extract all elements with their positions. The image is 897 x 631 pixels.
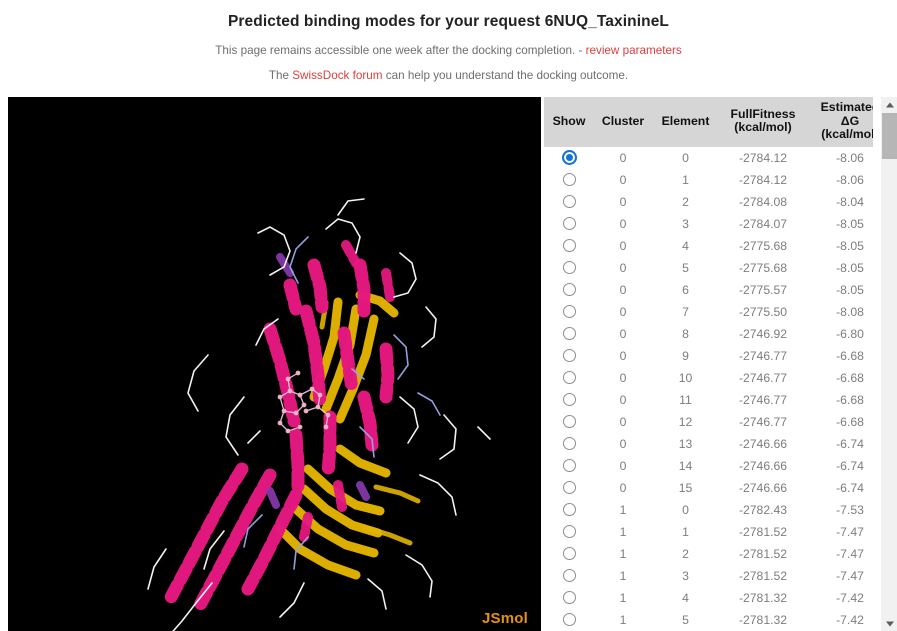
cell-estimated-dg: -6.74 xyxy=(807,433,873,455)
table-row[interactable]: 10-2782.43-7.53 xyxy=(544,499,873,521)
cell-element: 4 xyxy=(652,235,719,257)
cell-element: 5 xyxy=(652,257,719,279)
cell-cluster: 0 xyxy=(594,477,652,499)
column-header-fullfitness[interactable]: FullFitness (kcal/mol) xyxy=(719,97,807,147)
cell-fullfitness: -2781.32 xyxy=(719,587,807,609)
show-radio-button[interactable] xyxy=(563,195,576,208)
cell-fullfitness: -2746.92 xyxy=(719,323,807,345)
scroll-down-button[interactable] xyxy=(881,616,897,631)
column-header-fullfitness-unit: (kcal/mol) xyxy=(734,120,791,134)
cell-fullfitness: -2746.66 xyxy=(719,433,807,455)
cell-fullfitness: -2781.52 xyxy=(719,565,807,587)
cell-estimated-dg: -8.08 xyxy=(807,301,873,323)
cell-estimated-dg: -7.47 xyxy=(807,565,873,587)
cell-element: 2 xyxy=(652,543,719,565)
cell-fullfitness: -2746.66 xyxy=(719,477,807,499)
cell-fullfitness: -2746.77 xyxy=(719,411,807,433)
cell-fullfitness: -2775.57 xyxy=(719,279,807,301)
cell-cluster: 0 xyxy=(594,301,652,323)
cell-show[interactable] xyxy=(544,565,594,587)
cell-show[interactable] xyxy=(544,147,594,169)
cell-cluster: 0 xyxy=(594,235,652,257)
jsmol-viewer[interactable]: JSmol xyxy=(8,97,541,631)
cell-cluster: 1 xyxy=(594,543,652,565)
show-radio-button[interactable] xyxy=(563,349,576,362)
show-radio-button[interactable] xyxy=(563,613,576,626)
table-header: Show Cluster Element FullFitness (kcal/m… xyxy=(544,97,873,147)
cell-estimated-dg: -7.42 xyxy=(807,609,873,631)
column-header-estimated-dg[interactable]: Estimated ΔG (kcal/mol) xyxy=(807,97,873,147)
cell-cluster: 0 xyxy=(594,345,652,367)
cell-estimated-dg: -8.05 xyxy=(807,279,873,301)
cell-estimated-dg: -8.06 xyxy=(807,147,873,169)
cell-estimated-dg: -6.68 xyxy=(807,367,873,389)
cell-cluster: 0 xyxy=(594,257,652,279)
cell-show[interactable] xyxy=(544,301,594,323)
cell-cluster: 1 xyxy=(594,565,652,587)
cell-element: 6 xyxy=(652,279,719,301)
cell-element: 13 xyxy=(652,433,719,455)
cell-fullfitness: -2775.68 xyxy=(719,257,807,279)
table-row[interactable]: 11-2781.52-7.47 xyxy=(544,521,873,543)
show-radio-button[interactable] xyxy=(563,305,576,318)
main-content: JSmol Show Cluster Element FullFitness (… xyxy=(0,97,897,631)
cell-estimated-dg: -8.05 xyxy=(807,235,873,257)
show-radio-button[interactable] xyxy=(563,459,576,472)
cell-fullfitness: -2775.50 xyxy=(719,301,807,323)
table-row[interactable]: 010-2746.77-6.68 xyxy=(544,367,873,389)
table-row[interactable]: 011-2746.77-6.68 xyxy=(544,389,873,411)
cell-estimated-dg: -8.04 xyxy=(807,191,873,213)
show-radio-button[interactable] xyxy=(563,261,576,274)
cell-cluster: 0 xyxy=(594,411,652,433)
cell-estimated-dg: -7.47 xyxy=(807,521,873,543)
cell-cluster: 0 xyxy=(594,389,652,411)
cell-element: 10 xyxy=(652,367,719,389)
show-radio-button[interactable] xyxy=(563,481,576,494)
table-header-row: Show Cluster Element FullFitness (kcal/m… xyxy=(544,97,873,147)
cell-show[interactable] xyxy=(544,345,594,367)
column-header-dg-unit: (kcal/mol) xyxy=(821,127,873,141)
cell-fullfitness: -2781.52 xyxy=(719,521,807,543)
cell-show[interactable] xyxy=(544,389,594,411)
cell-fullfitness: -2784.12 xyxy=(719,169,807,191)
cell-cluster: 0 xyxy=(594,279,652,301)
jsmol-logo: JSmol xyxy=(482,610,528,627)
show-radio-button[interactable] xyxy=(563,547,576,560)
column-header-element[interactable]: Element xyxy=(652,97,719,147)
cell-element: 2 xyxy=(652,191,719,213)
forum-notice-prefix: The xyxy=(269,69,292,82)
table-row[interactable]: 09-2746.77-6.68 xyxy=(544,345,873,367)
cell-estimated-dg: -6.68 xyxy=(807,345,873,367)
show-radio-button[interactable] xyxy=(563,371,576,384)
page-title: Predicted binding modes for your request… xyxy=(0,13,897,31)
cell-cluster: 0 xyxy=(594,433,652,455)
cell-estimated-dg: -7.47 xyxy=(807,543,873,565)
cell-fullfitness: -2746.77 xyxy=(719,345,807,367)
column-header-show[interactable]: Show xyxy=(544,97,594,147)
cell-show[interactable] xyxy=(544,543,594,565)
results-table-scroll-area: Show Cluster Element FullFitness (kcal/m… xyxy=(544,97,873,631)
cell-fullfitness: -2784.08 xyxy=(719,191,807,213)
cell-element: 12 xyxy=(652,411,719,433)
cell-show[interactable] xyxy=(544,521,594,543)
cell-fullfitness: -2782.43 xyxy=(719,499,807,521)
cell-estimated-dg: -6.74 xyxy=(807,455,873,477)
column-header-cluster[interactable]: Cluster xyxy=(594,97,652,147)
cell-element: 1 xyxy=(652,169,719,191)
protein-ribbon-structure-icon xyxy=(8,97,541,631)
show-radio-button[interactable] xyxy=(563,525,576,538)
cell-cluster: 1 xyxy=(594,521,652,543)
cell-show[interactable] xyxy=(544,235,594,257)
column-header-dg-label: Estimated xyxy=(821,100,873,114)
table-row[interactable]: 08-2746.92-6.80 xyxy=(544,323,873,345)
table-row[interactable]: 07-2775.50-8.08 xyxy=(544,301,873,323)
table-row[interactable]: 01-2784.12-8.06 xyxy=(544,169,873,191)
accessibility-notice: This page remains accessible one week af… xyxy=(0,43,897,58)
table-row[interactable]: 13-2781.52-7.47 xyxy=(544,565,873,587)
column-header-dg-symbol: ΔG xyxy=(841,114,859,128)
cell-show[interactable] xyxy=(544,587,594,609)
cell-cluster: 0 xyxy=(594,191,652,213)
review-parameters-link[interactable]: review parameters xyxy=(586,44,682,57)
cell-show[interactable] xyxy=(544,169,594,191)
cell-show[interactable] xyxy=(544,411,594,433)
cell-element: 5 xyxy=(652,609,719,631)
cell-fullfitness: -2775.68 xyxy=(719,235,807,257)
show-radio-button[interactable] xyxy=(563,415,576,428)
show-radio-button[interactable] xyxy=(563,591,576,604)
cell-element: 3 xyxy=(652,565,719,587)
cell-show[interactable] xyxy=(544,279,594,301)
cell-show[interactable] xyxy=(544,367,594,389)
table-row[interactable]: 00-2784.12-8.06 xyxy=(544,147,873,169)
column-header-fullfitness-label: FullFitness xyxy=(731,107,796,121)
cell-fullfitness: -2746.77 xyxy=(719,389,807,411)
cell-fullfitness: -2746.66 xyxy=(719,455,807,477)
cell-show[interactable] xyxy=(544,499,594,521)
cell-estimated-dg: -6.68 xyxy=(807,411,873,433)
table-row[interactable]: 02-2784.08-8.04 xyxy=(544,191,873,213)
results-table-scrollbar[interactable] xyxy=(880,97,897,631)
cell-show[interactable] xyxy=(544,477,594,499)
cell-cluster: 0 xyxy=(594,147,652,169)
cell-cluster: 0 xyxy=(594,213,652,235)
cell-element: 15 xyxy=(652,477,719,499)
results-table-panel: Show Cluster Element FullFitness (kcal/m… xyxy=(544,97,897,631)
cell-estimated-dg: -6.68 xyxy=(807,389,873,411)
cell-element: 3 xyxy=(652,213,719,235)
cell-cluster: 0 xyxy=(594,367,652,389)
table-row[interactable]: 15-2781.32-7.42 xyxy=(544,609,873,631)
cell-cluster: 0 xyxy=(594,455,652,477)
show-radio-button[interactable] xyxy=(563,239,576,252)
table-row[interactable]: 06-2775.57-8.05 xyxy=(544,279,873,301)
show-radio-button[interactable] xyxy=(563,283,576,296)
cell-fullfitness: -2784.12 xyxy=(719,147,807,169)
chevron-up-icon xyxy=(886,102,894,107)
show-radio-button[interactable] xyxy=(563,327,576,340)
cell-element: 9 xyxy=(652,345,719,367)
cell-fullfitness: -2746.77 xyxy=(719,367,807,389)
cell-estimated-dg: -7.42 xyxy=(807,587,873,609)
page-header: Predicted binding modes for your request… xyxy=(0,0,897,83)
cell-element: 8 xyxy=(652,323,719,345)
cell-show[interactable] xyxy=(544,213,594,235)
cell-estimated-dg: -8.05 xyxy=(807,257,873,279)
cell-cluster: 1 xyxy=(594,609,652,631)
table-row[interactable]: 14-2781.32-7.42 xyxy=(544,587,873,609)
cell-cluster: 0 xyxy=(594,323,652,345)
show-radio-button[interactable] xyxy=(563,437,576,450)
cell-cluster: 0 xyxy=(594,169,652,191)
chevron-down-icon xyxy=(886,621,894,626)
cell-element: 14 xyxy=(652,455,719,477)
table-row[interactable]: 04-2775.68-8.05 xyxy=(544,235,873,257)
binding-modes-table: Show Cluster Element FullFitness (kcal/m… xyxy=(544,97,873,631)
show-radio-button[interactable] xyxy=(563,173,576,186)
cell-fullfitness: -2784.07 xyxy=(719,213,807,235)
table-row[interactable]: 014-2746.66-6.74 xyxy=(544,455,873,477)
table-row[interactable]: 12-2781.52-7.47 xyxy=(544,543,873,565)
table-row[interactable]: 03-2784.07-8.05 xyxy=(544,213,873,235)
cell-estimated-dg: -8.06 xyxy=(807,169,873,191)
cell-element: 7 xyxy=(652,301,719,323)
cell-estimated-dg: -6.74 xyxy=(807,477,873,499)
cell-fullfitness: -2781.32 xyxy=(719,609,807,631)
scroll-up-button[interactable] xyxy=(881,97,897,112)
cell-estimated-dg: -7.53 xyxy=(807,499,873,521)
cell-show[interactable] xyxy=(544,257,594,279)
cell-show[interactable] xyxy=(544,433,594,455)
scrollbar-thumb[interactable] xyxy=(882,113,897,159)
table-row[interactable]: 013-2746.66-6.74 xyxy=(544,433,873,455)
cell-element: 1 xyxy=(652,521,719,543)
show-radio-button[interactable] xyxy=(563,393,576,406)
cell-element: 11 xyxy=(652,389,719,411)
cell-cluster: 1 xyxy=(594,499,652,521)
cell-show[interactable] xyxy=(544,609,594,631)
accessibility-notice-text: This page remains accessible one week af… xyxy=(215,44,585,57)
forum-notice: The SwissDock forum can help you underst… xyxy=(0,68,897,83)
cell-element: 0 xyxy=(652,499,719,521)
table-body: 00-2784.12-8.0601-2784.12-8.0602-2784.08… xyxy=(544,147,873,631)
cell-cluster: 1 xyxy=(594,587,652,609)
cell-fullfitness: -2781.52 xyxy=(719,543,807,565)
table-row[interactable]: 012-2746.77-6.68 xyxy=(544,411,873,433)
show-radio-button[interactable] xyxy=(563,503,576,516)
cell-element: 0 xyxy=(652,147,719,169)
show-radio-button[interactable] xyxy=(563,569,576,582)
show-radio-button[interactable] xyxy=(563,217,576,230)
cell-estimated-dg: -6.80 xyxy=(807,323,873,345)
table-row[interactable]: 015-2746.66-6.74 xyxy=(544,477,873,499)
swissdock-forum-link[interactable]: SwissDock forum xyxy=(292,69,382,82)
cell-show[interactable] xyxy=(544,191,594,213)
cell-show[interactable] xyxy=(544,323,594,345)
show-radio-button[interactable] xyxy=(563,151,576,164)
cell-show[interactable] xyxy=(544,455,594,477)
cell-estimated-dg: -8.05 xyxy=(807,213,873,235)
table-row[interactable]: 05-2775.68-8.05 xyxy=(544,257,873,279)
forum-notice-suffix: can help you understand the docking outc… xyxy=(383,69,629,82)
cell-element: 4 xyxy=(652,587,719,609)
